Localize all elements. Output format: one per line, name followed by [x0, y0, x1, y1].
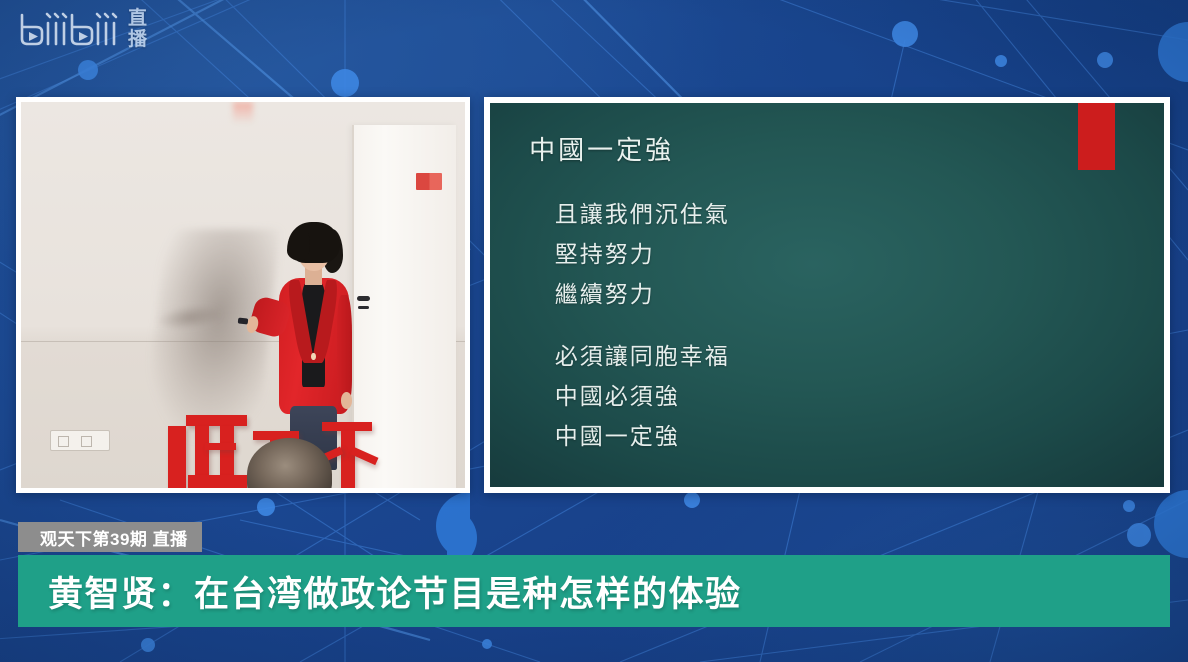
live-label-char2: 播: [128, 29, 147, 50]
slide-line-3: 繼續努力: [555, 275, 730, 315]
slide-line-1: 且讓我們沉住氣: [555, 195, 730, 235]
slide-panel[interactable]: 中國一定強 且讓我們沉住氣 堅持努力 繼續努力 必須讓同胞幸福 中國必須強 中國…: [484, 97, 1170, 493]
slide-line-6: 中國一定強: [555, 417, 730, 457]
camera-feed-image: [21, 102, 465, 488]
bilibili-wordmark-icon: [14, 6, 122, 52]
slide-heading: 中國一定強: [529, 130, 674, 167]
slide-blackboard: 中國一定強 且讓我們沉住氣 堅持努力 繼續努力 必須讓同胞幸福 中國必須強 中國…: [490, 103, 1164, 487]
door-sign-icon: [416, 173, 442, 190]
live-label: 直 播: [128, 8, 147, 50]
projector-glow: [233, 102, 253, 124]
slide-red-accent-block: [1078, 103, 1114, 170]
slide-line-5: 中國必須強: [555, 377, 730, 417]
bilibili-logo: 直 播: [14, 6, 147, 52]
live-stream-frame: 直 播: [0, 0, 1188, 662]
episode-badge: 观天下第39期 直播: [18, 522, 202, 552]
lower-third-bar: 黄智贤：在台湾做政论节目是种怎样的体验: [18, 555, 1170, 627]
slide-line-2: 堅持努力: [555, 235, 730, 275]
slide-line-4: 必須讓同胞幸福: [555, 337, 730, 377]
wall-socket: [50, 430, 110, 451]
slide-line-gap: [555, 315, 730, 337]
live-label-char1: 直: [128, 8, 147, 29]
program-title: 黄智贤：在台湾做政论节目是种怎样的体验: [18, 566, 742, 617]
camera-feed-panel[interactable]: [16, 97, 470, 493]
slide-body: 且讓我們沉住氣 堅持努力 繼續努力 必須讓同胞幸福 中國必須強 中國一定強: [555, 195, 730, 457]
